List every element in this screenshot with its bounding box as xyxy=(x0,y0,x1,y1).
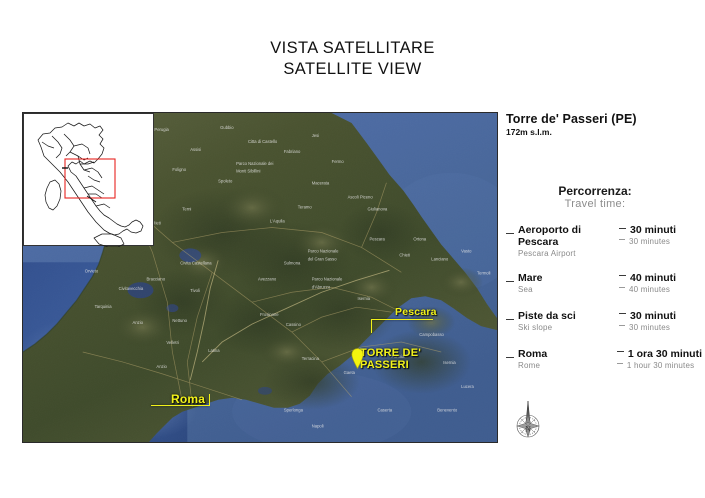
row-bullet-dash xyxy=(506,319,514,320)
duration-english: 40 minutes xyxy=(629,285,670,294)
duration-italian: 30 minuti xyxy=(630,310,676,322)
duration-english: 1 hour 30 minutes xyxy=(627,361,694,370)
travel-row: Piste da sci Ski slope 30 minuti 30 minu… xyxy=(506,310,702,336)
duration-dash-small xyxy=(619,239,625,240)
travel-time-list: Aeroporto di Pescara Pescara Airport 30 … xyxy=(506,224,702,374)
duration-cell: 30 minuti 30 minutes xyxy=(619,310,702,336)
destination-english: Rome xyxy=(518,361,617,371)
map-label-torre-de-passeri: TORRE DE' PASSERI xyxy=(360,348,421,371)
compass-north-letter: N xyxy=(525,425,531,434)
info-panel: Torre de' Passeri (PE) 172m s.l.m. Perco… xyxy=(506,112,702,362)
destination-italian: Piste da sci xyxy=(518,310,619,322)
duration-dash-small xyxy=(617,363,623,364)
map-label-pescara-tick xyxy=(371,319,372,333)
duration-dash-small xyxy=(619,287,625,288)
duration-english: 30 minutes xyxy=(629,323,670,332)
travel-heading-italian: Percorrenza: xyxy=(506,184,684,198)
duration-dash xyxy=(617,351,624,352)
duration-italian: 40 minuti xyxy=(630,272,676,284)
duration-cell: 30 minuti 30 minutes xyxy=(619,224,702,260)
destination-cell: Roma Rome xyxy=(506,348,617,374)
inset-highlight-rect xyxy=(65,159,115,198)
duration-dash-small xyxy=(619,325,625,326)
duration-italian: 30 minuti xyxy=(630,224,676,236)
place-altitude: 172m s.l.m. xyxy=(506,127,702,137)
map-label-roma-tick xyxy=(209,394,210,406)
title-italian: VISTA SATELLITARE xyxy=(0,38,705,59)
duration-dash xyxy=(619,228,626,229)
duration-cell: 1 ora 30 minuti 1 hour 30 minutes xyxy=(617,348,702,374)
row-bullet-dash xyxy=(506,281,514,282)
duration-english: 30 minutes xyxy=(629,237,670,246)
travel-time-heading: Percorrenza: Travel time: xyxy=(506,184,702,210)
duration-italian: 1 ora 30 minuti xyxy=(628,348,702,360)
row-bullet-dash xyxy=(506,233,514,234)
destination-english: Pescara Airport xyxy=(518,249,619,259)
destination-italian: Aeroporto di Pescara xyxy=(518,224,619,248)
map-label-roma-underline xyxy=(151,405,209,406)
travel-row: Roma Rome 1 ora 30 minuti 1 hour 30 minu… xyxy=(506,348,702,374)
duration-cell: 40 minuti 40 minutes xyxy=(619,272,702,298)
travel-row: Mare Sea 40 minuti 40 minutes xyxy=(506,272,702,298)
inset-locator-map xyxy=(23,113,154,246)
map-label-torre-line2: PASSERI xyxy=(360,360,421,372)
destination-cell: Piste da sci Ski slope xyxy=(506,310,619,336)
location-pin-icon[interactable] xyxy=(351,348,364,369)
destination-cell: Mare Sea xyxy=(506,272,619,298)
travel-row: Aeroporto di Pescara Pescara Airport 30 … xyxy=(506,224,702,260)
map-label-torre-line1: TORRE DE' xyxy=(360,348,421,360)
duration-dash xyxy=(619,313,626,314)
italy-outline xyxy=(24,114,155,247)
map-label-pescara-underline xyxy=(371,319,433,320)
travel-heading-english: Travel time: xyxy=(506,198,684,210)
map-label-pescara: Pescara xyxy=(395,306,437,318)
title-english: SATELLITE VIEW xyxy=(0,59,705,80)
duration-dash xyxy=(619,275,626,276)
destination-english: Ski slope xyxy=(518,323,619,333)
destination-cell: Aeroporto di Pescara Pescara Airport xyxy=(506,224,619,260)
page-title: VISTA SATELLITARE SATELLITE VIEW xyxy=(0,38,705,79)
satellite-map[interactable]: Perugia Gubbio Citta di Castello Assisi … xyxy=(22,112,498,443)
destination-italian: Roma xyxy=(518,348,617,360)
compass-rose-icon: N xyxy=(505,398,551,450)
place-name: Torre de' Passeri (PE) xyxy=(506,112,702,126)
row-bullet-dash xyxy=(506,357,514,358)
destination-italian: Mare xyxy=(518,272,619,284)
destination-english: Sea xyxy=(518,285,619,295)
map-label-roma: Roma xyxy=(171,392,205,406)
